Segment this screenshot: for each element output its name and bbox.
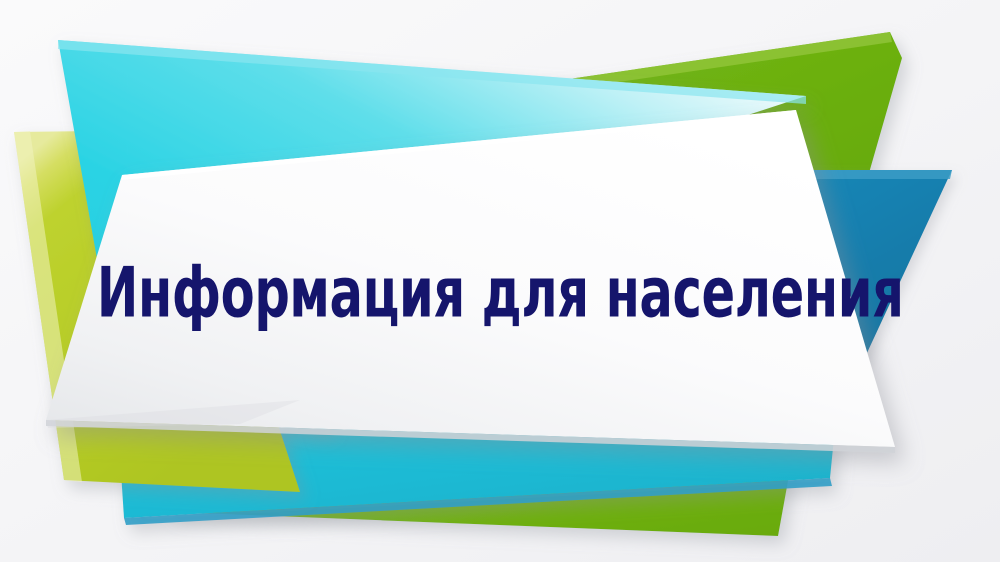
decorative-background [0,0,1000,562]
banner-canvas: Информация для населения [0,0,1000,562]
